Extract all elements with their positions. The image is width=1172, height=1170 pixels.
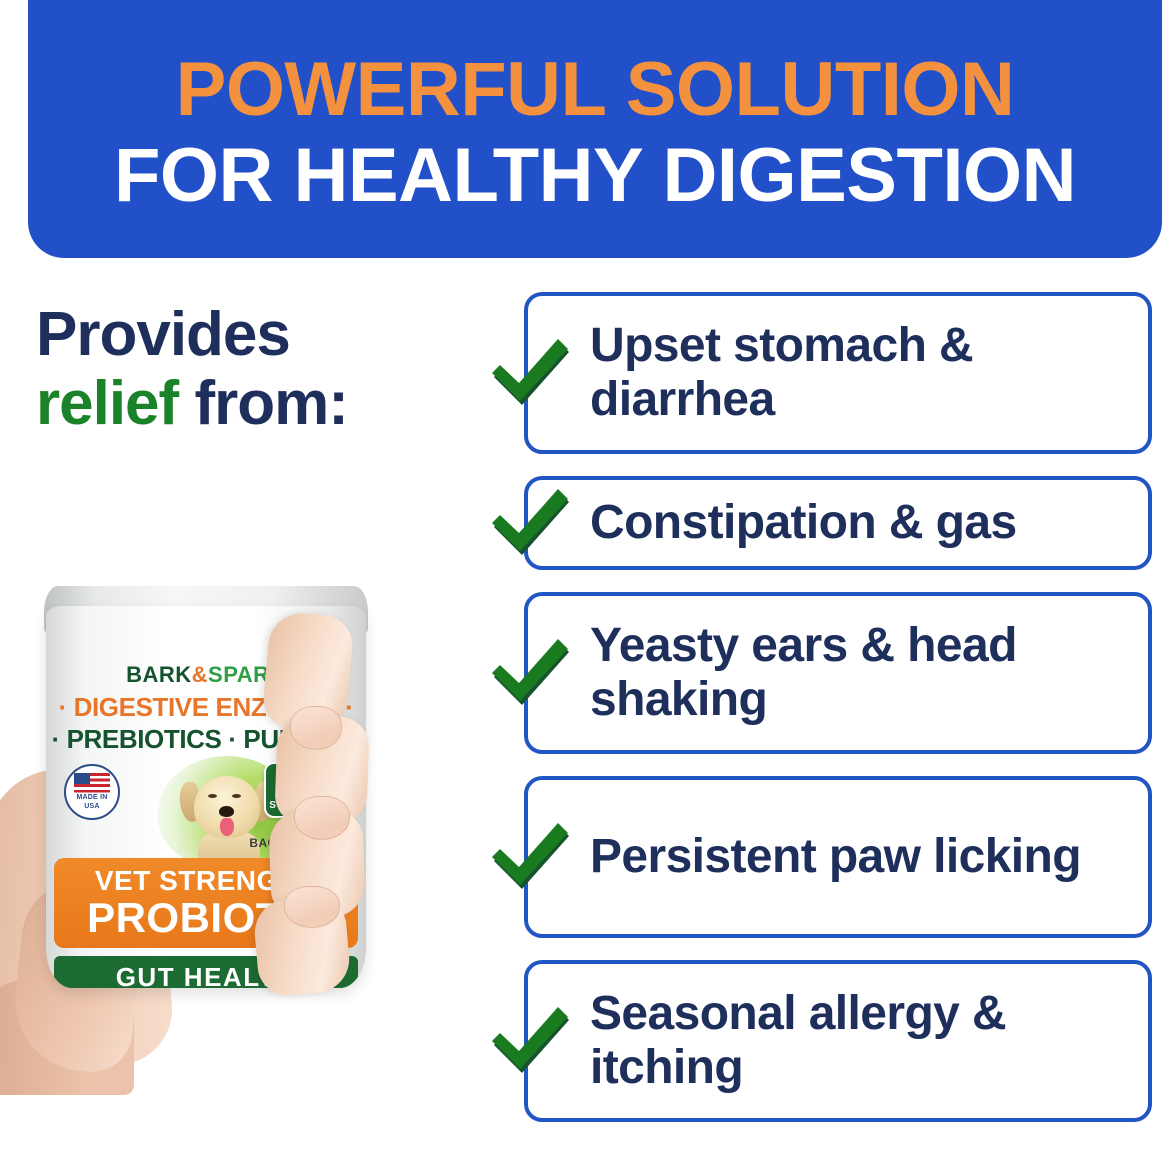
checklist-item[interactable]: Persistent paw licking <box>524 776 1152 938</box>
left-heading-word-relief: relief <box>36 369 178 438</box>
checklist-item-label: Yeasty ears & head shaking <box>590 619 1124 727</box>
header-title-line2: FOR HEALTHY DIGESTION <box>114 137 1076 215</box>
dog-nose <box>219 806 234 817</box>
header-title-line1: POWERFUL SOLUTION <box>176 51 1015 129</box>
checklist-item[interactable]: Seasonal allergy & itching <box>524 960 1152 1122</box>
left-heading-word-from: from: <box>194 369 347 438</box>
checklist-item[interactable]: Yeasty ears & head shaking <box>524 592 1152 754</box>
usa-badge-line2: USA <box>77 803 108 811</box>
checklist-item[interactable]: Upset stomach & diarrhea <box>524 292 1152 454</box>
fingernail <box>290 706 342 750</box>
checkmark-icon <box>488 483 576 563</box>
checkmark-icon <box>488 633 576 713</box>
infographic-page: POWERFUL SOLUTION FOR HEALTHY DIGESTION … <box>0 0 1172 1170</box>
made-in-usa-badge: MADE IN USA <box>64 764 120 820</box>
checkmark-icon <box>488 817 576 897</box>
fingernail <box>284 886 340 928</box>
dog-tongue <box>220 818 234 836</box>
header-banner: POWERFUL SOLUTION FOR HEALTHY DIGESTION <box>28 0 1162 258</box>
usa-badge-line1: MADE IN <box>77 794 108 802</box>
left-heading: Provides relief from: <box>36 300 486 439</box>
brand-ampersand: & <box>192 662 208 687</box>
checklist-item-label: Upset stomach & diarrhea <box>590 319 1124 427</box>
checkmark-icon <box>488 333 576 413</box>
checkmark-icon <box>488 1001 576 1081</box>
checklist-item[interactable]: Constipation & gas <box>524 476 1152 570</box>
usa-flag-icon <box>74 773 110 793</box>
product-image-hand-holding-jar: BARK&SPARK · DIGESTIVE ENZYMES · · PREBI… <box>0 580 474 1090</box>
left-heading-word-provides: Provides <box>36 300 290 369</box>
checklist-item-label: Persistent paw licking <box>590 830 1081 884</box>
checklist-item-label: Seasonal allergy & itching <box>590 987 1124 1095</box>
dog-eye-right <box>232 794 241 798</box>
checklist-item-label: Constipation & gas <box>590 496 1017 550</box>
brand-bark: BARK <box>126 662 192 687</box>
fingernail <box>294 796 350 840</box>
dog-eye-left <box>208 794 217 798</box>
benefits-checklist: Upset stomach & diarrhea Constipation & … <box>524 292 1152 1144</box>
